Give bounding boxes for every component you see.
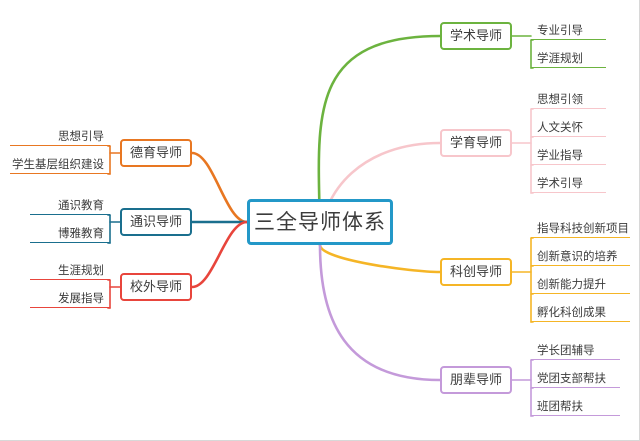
leaf-item-label: 生涯规划 bbox=[58, 263, 104, 279]
connector-line bbox=[320, 245, 440, 380]
leaf-item-label: 人文关怀 bbox=[537, 120, 583, 136]
leaf-item[interactable]: 思想引领 bbox=[531, 87, 606, 109]
connector-line bbox=[192, 153, 247, 222]
branch-node-xiaowai[interactable]: 校外导师 bbox=[120, 273, 192, 301]
leaf-item[interactable]: 创新能力提升 bbox=[531, 272, 630, 294]
branch-node-label: 德育导师 bbox=[130, 147, 182, 160]
leaf-item[interactable]: 学术引导 bbox=[531, 171, 606, 193]
branch-node-label: 朋辈导师 bbox=[450, 374, 502, 387]
leaf-item-label: 党团支部帮扶 bbox=[537, 371, 606, 387]
leaf-item-label: 专业引导 bbox=[537, 23, 583, 39]
leaf-item[interactable]: 学业指导 bbox=[531, 143, 606, 165]
leaf-item[interactable]: 发展指导 bbox=[30, 286, 110, 308]
leaf-item-label: 创新意识的培养 bbox=[537, 249, 618, 265]
leaf-item[interactable]: 通识教育 bbox=[30, 193, 110, 215]
leaf-item[interactable]: 党团支部帮扶 bbox=[531, 366, 620, 388]
leaf-item-label: 指导科技创新项目 bbox=[537, 221, 629, 237]
branch-node-xueshu[interactable]: 学术导师 bbox=[440, 22, 512, 50]
leaf-item-label: 发展指导 bbox=[58, 291, 104, 307]
leaf-item-label: 通识教育 bbox=[58, 198, 104, 214]
leaf-item[interactable]: 班团帮扶 bbox=[531, 394, 620, 416]
root-node[interactable]: 三全导师体系 bbox=[247, 199, 393, 245]
leaf-item[interactable]: 博雅教育 bbox=[30, 221, 110, 243]
leaf-item[interactable]: 孵化科创成果 bbox=[531, 300, 630, 322]
leaf-item-label: 学生基层组织建设 bbox=[12, 157, 104, 173]
leaf-item[interactable]: 学涯规划 bbox=[531, 46, 606, 68]
branch-node-kechuang[interactable]: 科创导师 bbox=[440, 258, 512, 286]
leaf-item-label: 思想引领 bbox=[537, 92, 583, 108]
mindmap-canvas: 三全导师体系 学术导师专业引导学涯规划学育导师思想引领人文关怀学业指导学术引导科… bbox=[0, 0, 640, 441]
leaf-item[interactable]: 学生基层组织建设 bbox=[10, 152, 110, 174]
branch-node-label: 学术导师 bbox=[450, 30, 502, 43]
branch-node-pengbei[interactable]: 朋辈导师 bbox=[440, 366, 512, 394]
connector-line bbox=[192, 222, 247, 287]
leaf-item[interactable]: 创新意识的培养 bbox=[531, 244, 630, 266]
connector-line bbox=[320, 245, 440, 272]
branch-node-label: 科创导师 bbox=[450, 266, 502, 279]
branch-node-xueyu[interactable]: 学育导师 bbox=[440, 129, 512, 157]
leaf-item-label: 创新能力提升 bbox=[537, 277, 606, 293]
leaf-item-label: 班团帮扶 bbox=[537, 399, 583, 415]
branch-node-label: 校外导师 bbox=[130, 281, 182, 294]
leaf-item-label: 孵化科创成果 bbox=[537, 305, 606, 321]
leaf-item-label: 思想引导 bbox=[58, 129, 104, 145]
leaf-item-label: 学长团辅导 bbox=[537, 343, 595, 359]
root-node-label: 三全导师体系 bbox=[254, 212, 386, 233]
branch-node-tongshi[interactable]: 通识导师 bbox=[120, 208, 192, 236]
leaf-item-label: 学业指导 bbox=[537, 148, 583, 164]
branch-node-deyu[interactable]: 德育导师 bbox=[120, 139, 192, 167]
leaf-item[interactable]: 指导科技创新项目 bbox=[531, 216, 630, 238]
leaf-item[interactable]: 专业引导 bbox=[531, 18, 606, 40]
leaf-item-label: 博雅教育 bbox=[58, 226, 104, 242]
leaf-item[interactable]: 生涯规划 bbox=[30, 258, 110, 280]
leaf-item-label: 学涯规划 bbox=[537, 51, 583, 67]
branch-node-label: 学育导师 bbox=[450, 137, 502, 150]
branch-node-label: 通识导师 bbox=[130, 216, 182, 229]
leaf-item[interactable]: 人文关怀 bbox=[531, 115, 606, 137]
leaf-item[interactable]: 学长团辅导 bbox=[531, 338, 620, 360]
leaf-item[interactable]: 思想引导 bbox=[10, 124, 110, 146]
leaf-item-label: 学术引导 bbox=[537, 176, 583, 192]
